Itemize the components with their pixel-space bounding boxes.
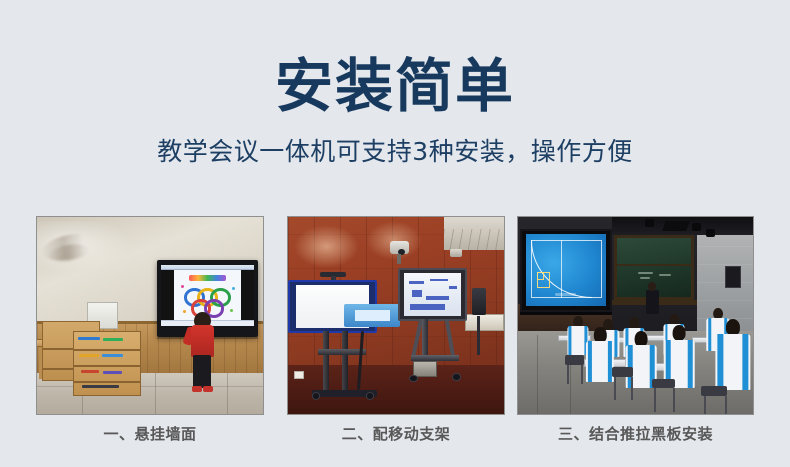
screen-annotation-bar <box>555 293 576 296</box>
white-counter <box>465 314 504 332</box>
speaker-stand <box>477 316 480 355</box>
child-legs <box>193 355 211 388</box>
student <box>715 319 750 390</box>
screen-decor-dot <box>230 309 233 312</box>
chair-leg <box>631 377 633 401</box>
screen-right-panel <box>241 270 254 320</box>
mobile-display-right <box>398 268 467 321</box>
uniform-stripe <box>615 330 618 357</box>
scene-classroom-wall-mount <box>37 217 263 414</box>
student-head <box>673 325 686 341</box>
chalk-writing <box>659 274 671 276</box>
screen-left-panel <box>161 270 174 320</box>
page-title: 安装简单 <box>0 52 790 120</box>
floor-grout-line <box>537 335 538 414</box>
screen-decor-dot <box>181 285 184 288</box>
display-screen <box>526 234 607 306</box>
chair-leg <box>614 377 616 401</box>
stand-column <box>422 319 428 354</box>
screen-dialog-label <box>355 310 390 322</box>
floor-grout-line <box>155 373 156 414</box>
gallery-item-blackboard-combined[interactable]: 三、结合推拉黑板安装 <box>517 216 754 444</box>
chalk-writing <box>640 277 650 279</box>
uniform-stripe <box>588 341 592 382</box>
floor-grout-line <box>37 386 263 387</box>
toy-bin <box>82 385 119 388</box>
stand-column <box>323 331 330 396</box>
page-subtitle: 教学会议一体机可支持3种安装，操作方便 <box>0 136 790 168</box>
screen-graphic <box>426 296 449 300</box>
wall-camera <box>450 249 462 258</box>
screen-graphic <box>430 279 447 281</box>
screen-decor-dot <box>183 310 186 313</box>
toy-bin <box>102 354 123 357</box>
screen-colorful-title <box>189 275 226 281</box>
floor-grout-line <box>227 373 228 414</box>
mobile-stand-display-photo <box>287 216 505 415</box>
blackboard-combined-display-photo <box>517 216 754 415</box>
gallery-caption-1: 一、悬挂墙面 <box>36 424 264 444</box>
uniform-stripe <box>569 326 572 355</box>
ceiling-spotlight <box>692 223 701 231</box>
student-uniform <box>715 334 750 390</box>
student-chair <box>652 379 676 389</box>
wall-light-glow <box>294 225 359 268</box>
chair-leg <box>581 365 583 385</box>
child-red-jacket <box>191 325 215 357</box>
caster-wheel <box>452 373 461 381</box>
uniform-stripe <box>743 334 749 390</box>
uniform-stripe <box>708 318 711 351</box>
screen-graphic <box>410 304 446 309</box>
interactive-display-blue <box>520 229 612 312</box>
student-chair <box>701 386 727 396</box>
gallery-item-wall-mount[interactable]: 一、悬挂墙面 <box>36 216 264 444</box>
equipment-box <box>413 361 437 377</box>
chalk-writing <box>638 272 653 274</box>
student <box>586 327 614 382</box>
chair-leg <box>654 388 656 412</box>
uniform-stripe <box>718 334 724 390</box>
screen-graphic <box>409 281 424 284</box>
installation-gallery: 一、悬挂墙面 <box>0 216 790 446</box>
chair-leg <box>673 388 675 412</box>
gallery-item-mobile-stand[interactable]: 二、配移动支架 <box>287 216 505 444</box>
shelf-divider <box>74 349 140 351</box>
toy-bin <box>79 354 99 357</box>
wall-mounted-display-photo <box>36 216 264 415</box>
toy-bin <box>81 370 99 373</box>
chair-leg <box>725 396 727 414</box>
display-bezel-base <box>520 312 612 316</box>
chair-leg <box>567 365 569 385</box>
stand-column <box>342 331 348 390</box>
screen-graphic <box>449 286 457 289</box>
student-head <box>726 319 740 335</box>
screen-decor-dot <box>232 287 235 290</box>
shelf-divider <box>74 381 140 383</box>
gallery-caption-2: 二、配移动支架 <box>287 424 505 444</box>
wall-socket <box>294 371 304 379</box>
chair-leg <box>704 396 706 414</box>
child-shoe <box>203 386 213 392</box>
toy-bin <box>103 338 123 341</box>
wooden-shelf-front <box>73 331 141 396</box>
display-screen <box>404 273 461 316</box>
chalkboard-split-rail <box>614 264 694 266</box>
teacher-body <box>646 290 659 314</box>
floor-speaker <box>472 288 486 316</box>
scene-lecture-hall <box>518 217 753 414</box>
student-uniform <box>586 341 614 382</box>
child-shoe <box>192 386 202 392</box>
teacher-head <box>648 282 656 291</box>
wall-speaker <box>725 266 741 288</box>
gallery-caption-3: 三、结合推拉黑板安装 <box>517 424 754 444</box>
ceiling-spotlight <box>645 219 654 227</box>
uniform-stripe <box>688 340 693 389</box>
ceiling-grid <box>444 229 504 251</box>
ceiling-duct <box>662 221 689 231</box>
scene-room-mobile-stands <box>288 217 504 414</box>
toy-bin <box>78 337 100 340</box>
shelf-divider <box>74 365 140 367</box>
student-chair <box>612 367 633 377</box>
caster-wheel <box>409 375 418 383</box>
ceiling-spotlight <box>706 229 715 237</box>
screen-graphic <box>412 290 422 296</box>
projector-mount <box>397 254 401 264</box>
student-chair <box>565 355 584 365</box>
golden-ratio-square <box>537 272 544 281</box>
heading-block: 安装简单 教学会议一体机可支持3种安装，操作方便 <box>0 0 790 168</box>
toy-bin <box>103 371 121 374</box>
